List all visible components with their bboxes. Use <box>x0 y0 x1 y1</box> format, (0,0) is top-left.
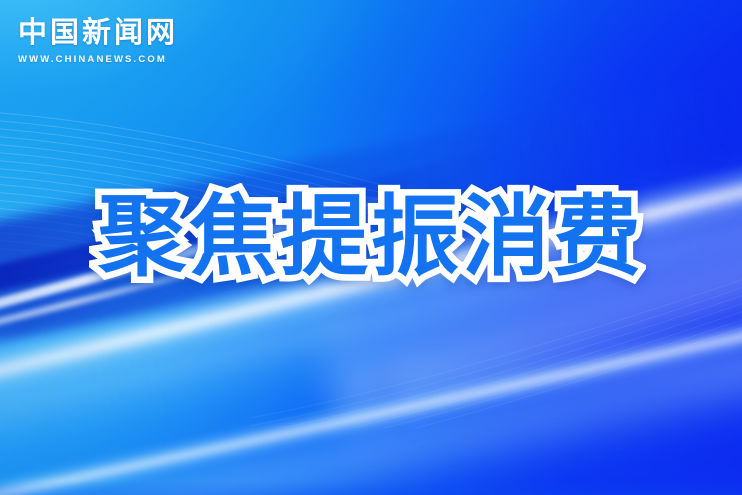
bottom-shade <box>0 481 742 495</box>
chinanews-banner: 中国新闻网 WWW.CHINANEWS.COM 聚焦提振消费 <box>0 0 742 495</box>
logo-website-url: WWW.CHINANEWS.COM <box>18 55 178 65</box>
chinanews-logo: 中国新闻网 WWW.CHINANEWS.COM <box>18 18 178 65</box>
headline-text: 聚焦提振消费 <box>98 191 644 283</box>
logo-name-cn: 中国新闻网 <box>18 18 178 47</box>
headline-container: 聚焦提振消费 <box>0 191 742 283</box>
